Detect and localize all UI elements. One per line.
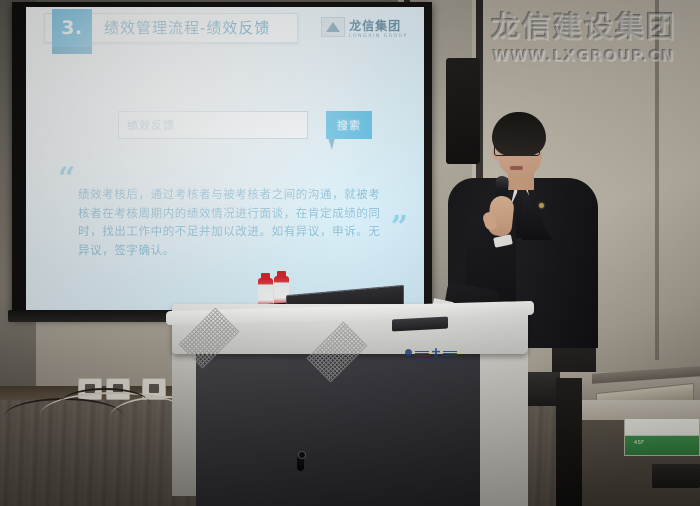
podium-body-shading bbox=[196, 350, 508, 506]
keyhole-icon[interactable] bbox=[297, 455, 304, 471]
slide-section-number: 3. bbox=[52, 9, 92, 47]
podium-logo-figure-icon bbox=[432, 348, 440, 357]
quote-close-mark: ” bbox=[391, 219, 408, 237]
search-input[interactable]: 绩效反馈 bbox=[118, 111, 308, 139]
presenter-mouth bbox=[510, 166, 523, 170]
slide-brand-logo: 龙信集团 LONGXIN GROUP bbox=[321, 15, 408, 39]
podium-side-right bbox=[480, 344, 528, 506]
mountain-triangle-icon bbox=[321, 17, 345, 37]
brand-name-cn: 龙信集团 bbox=[349, 19, 401, 33]
slide-title: 绩效管理流程-绩效反馈 bbox=[104, 17, 270, 38]
search-row: 绩效反馈 搜索 bbox=[118, 111, 372, 139]
brand-text-block: 龙信集团 LONGXIN GROUP bbox=[349, 15, 408, 39]
podium-logo-text-block bbox=[443, 350, 457, 356]
podium-logo-text-block bbox=[415, 350, 429, 356]
wall-seam bbox=[655, 0, 659, 360]
slide-body-text: 绩效考核后，通过考核者与被考核者之间的沟通，就被考核者在考核周期内的绩效情况进行… bbox=[78, 185, 390, 259]
dark-objects-on-counter bbox=[652, 464, 700, 488]
search-button[interactable]: 搜索 bbox=[326, 111, 372, 139]
presentation-slide: 3. 绩效管理流程-绩效反馈 龙信集团 LONGXIN GROUP 绩效反馈 搜… bbox=[26, 7, 424, 310]
quote-open-mark: “ bbox=[58, 170, 75, 188]
screenshot-root: 4SF 3. 绩效管理流程-绩效反馈 龙信集团 LONGXIN GROUP 绩效… bbox=[0, 0, 700, 506]
green-product-box bbox=[624, 418, 700, 456]
brand-name-en: LONGXIN GROUP bbox=[349, 34, 408, 39]
podium-logo-subtitle: 长兴岛建设集团有限公司 bbox=[410, 358, 452, 362]
podium-logo-dot-icon bbox=[405, 349, 412, 356]
black-drape bbox=[556, 378, 582, 506]
presenter-hair bbox=[492, 112, 546, 156]
podium-logo: 长兴岛建设集团有限公司 bbox=[404, 344, 458, 366]
podium-side-left bbox=[172, 346, 198, 496]
presenter-lapel-pin bbox=[539, 203, 544, 208]
green-box-label: 4SF bbox=[634, 440, 644, 446]
pointer-arrow-icon bbox=[328, 137, 338, 150]
wall-speaker bbox=[446, 58, 480, 164]
